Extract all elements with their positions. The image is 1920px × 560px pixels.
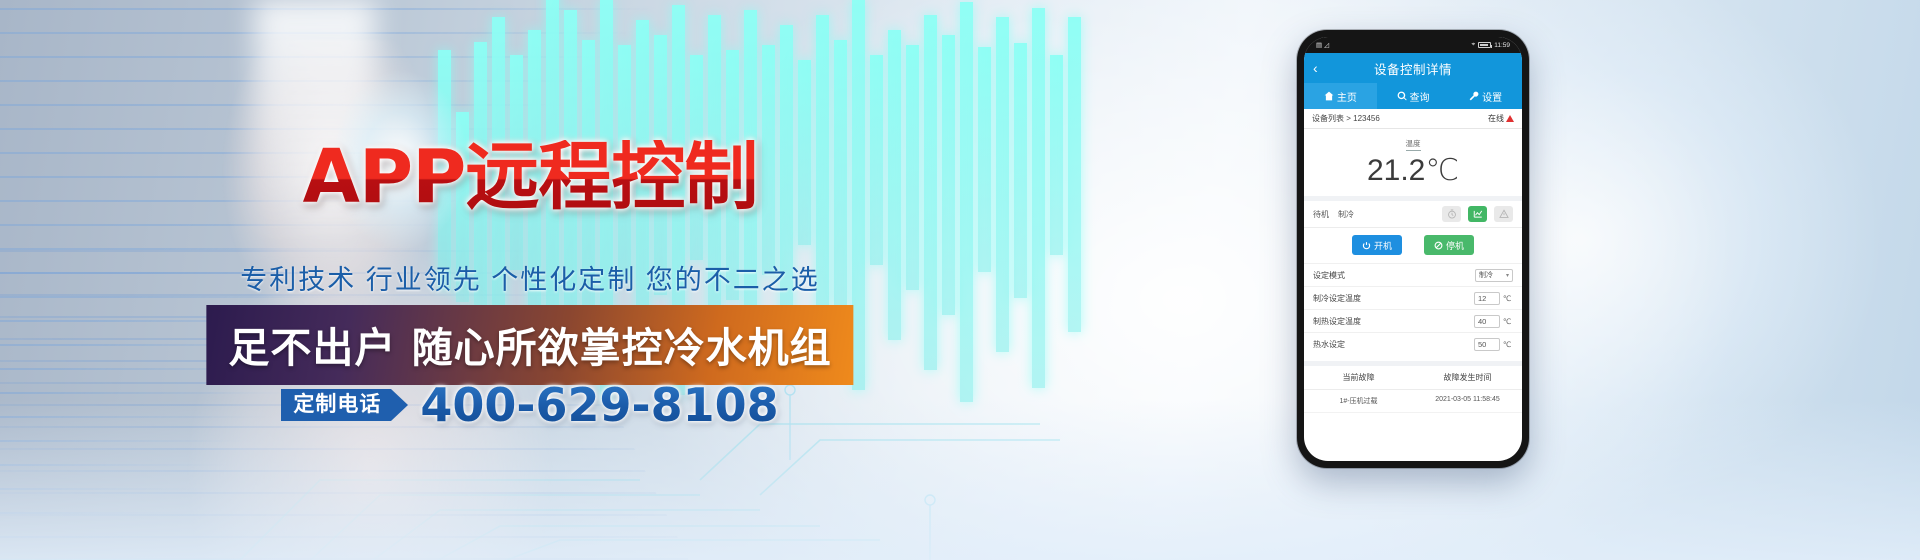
wrench-icon bbox=[1469, 91, 1479, 101]
mode-row: 待机 制冷 bbox=[1304, 201, 1522, 228]
setting-control-hotwater: 50 ℃ bbox=[1474, 338, 1513, 351]
tab-settings-label: 设置 bbox=[1482, 89, 1502, 104]
tab-bar: 主页 查询 设置 bbox=[1304, 83, 1522, 109]
fault-col-name: 当前故障 bbox=[1304, 366, 1413, 389]
status-badge: 在线 bbox=[1488, 113, 1504, 124]
chart-icon-button[interactable] bbox=[1468, 206, 1487, 222]
battery-icon bbox=[1478, 42, 1491, 48]
setting-row-mode: 设定模式 制冷 ▾ bbox=[1304, 263, 1522, 286]
hotline-row: 定制电话 400-629-8108 bbox=[0, 378, 1060, 432]
hero-highlight-bar: 足不出户 随心所欲掌控冷水机组 bbox=[206, 305, 853, 385]
status-bar: ▤ ◿ ⌖ 11:59 bbox=[1304, 37, 1522, 53]
tab-home-label: 主页 bbox=[1337, 89, 1357, 104]
tab-query-label: 查询 bbox=[1410, 89, 1430, 104]
setting-control-cool-temp: 12 ℃ bbox=[1474, 292, 1513, 305]
location-icon: ⌖ bbox=[1472, 41, 1476, 49]
status-time: 11:59 bbox=[1494, 42, 1510, 49]
mode-cooling-label: 制冷 bbox=[1338, 209, 1354, 220]
hotwater-unit: ℃ bbox=[1503, 340, 1513, 349]
cool-temp-unit: ℃ bbox=[1503, 294, 1513, 303]
fault-table-header: 当前故障 故障发生时间 bbox=[1304, 366, 1522, 390]
decorative-right-glow bbox=[1160, 0, 1920, 560]
back-icon[interactable]: ‹ bbox=[1313, 61, 1318, 75]
breadcrumb-bar: 设备列表 > 123456 在线 bbox=[1304, 109, 1522, 129]
hero-subtitle: 专利技术 行业领先 个性化定制 您的不二之选 bbox=[0, 258, 1060, 297]
hotline-label: 定制电话 bbox=[281, 389, 391, 421]
power-icon bbox=[1362, 241, 1371, 250]
fault-time: 2021-03-05 11:58:45 bbox=[1413, 390, 1522, 412]
promo-banner: APP远程控制 专利技术 行业领先 个性化定制 您的不二之选 足不出户 随心所欲… bbox=[0, 0, 1920, 560]
power-on-button[interactable]: 开机 bbox=[1352, 235, 1402, 255]
search-icon bbox=[1397, 91, 1407, 101]
fault-col-time: 故障发生时间 bbox=[1413, 366, 1522, 389]
setting-row-hotwater: 热水设定 50 ℃ bbox=[1304, 332, 1522, 355]
tab-query[interactable]: 查询 bbox=[1377, 83, 1450, 109]
mode-select[interactable]: 制冷 ▾ bbox=[1475, 269, 1513, 282]
power-buttons-row: 开机 停机 bbox=[1304, 228, 1522, 263]
temperature-label: 温度 bbox=[1406, 138, 1421, 151]
setting-control-mode: 制冷 ▾ bbox=[1475, 269, 1513, 282]
hero-copy: APP远程控制 专利技术 行业领先 个性化定制 您的不二之选 足不出户 随心所欲… bbox=[0, 0, 1060, 560]
hotline-number[interactable]: 400-629-8108 bbox=[420, 378, 778, 432]
mode-select-value: 制冷 bbox=[1479, 270, 1493, 280]
warning-icon bbox=[1506, 115, 1514, 122]
breadcrumb[interactable]: 设备列表 > 123456 bbox=[1312, 113, 1380, 124]
setting-row-heat-temp: 制热设定温度 40 ℃ bbox=[1304, 309, 1522, 332]
chart-icon bbox=[1473, 209, 1483, 219]
power-off-button[interactable]: 停机 bbox=[1424, 235, 1474, 255]
phone-mockup: ▤ ◿ ⌖ 11:59 ‹ 设备控制详情 主页 bbox=[1297, 30, 1529, 468]
home-icon bbox=[1324, 91, 1334, 101]
temperature-readout: 温度 21.2℃ bbox=[1304, 129, 1522, 196]
timer-icon bbox=[1447, 209, 1457, 219]
alarm-icon-button[interactable] bbox=[1494, 206, 1513, 222]
phone-screen: ▤ ◿ ⌖ 11:59 ‹ 设备控制详情 主页 bbox=[1304, 37, 1522, 461]
page-title: APP远程控制 bbox=[0, 140, 1060, 214]
hero-highlight-text: 足不出户 随心所欲掌控冷水机组 bbox=[228, 324, 831, 372]
chevron-down-icon: ▾ bbox=[1506, 272, 1509, 279]
app-title: 设备控制详情 bbox=[1304, 59, 1522, 78]
setting-control-heat-temp: 40 ℃ bbox=[1474, 315, 1513, 328]
tab-settings[interactable]: 设置 bbox=[1449, 83, 1522, 109]
connection-status: 在线 bbox=[1488, 113, 1514, 124]
status-bar-right: ⌖ 11:59 bbox=[1472, 41, 1510, 49]
table-row[interactable]: 1#-压机过载 2021-03-05 11:58:45 bbox=[1304, 390, 1522, 413]
sim-icon: ▤ bbox=[1316, 41, 1322, 49]
app-header: ‹ 设备控制详情 bbox=[1304, 53, 1522, 83]
setting-row-cool-temp: 制冷设定温度 12 ℃ bbox=[1304, 286, 1522, 309]
alarm-icon bbox=[1499, 209, 1509, 219]
mode-icon-buttons bbox=[1442, 206, 1513, 222]
tab-home[interactable]: 主页 bbox=[1304, 83, 1377, 109]
setting-label-mode: 设定模式 bbox=[1313, 270, 1475, 281]
fault-name: 1#-压机过载 bbox=[1304, 390, 1413, 412]
power-off-label: 停机 bbox=[1446, 239, 1464, 252]
power-on-label: 开机 bbox=[1374, 239, 1392, 252]
settings-list: 设定模式 制冷 ▾ 制冷设定温度 12 ℃ bbox=[1304, 263, 1522, 355]
mode-standby-label: 待机 bbox=[1313, 209, 1329, 220]
setting-label-hotwater: 热水设定 bbox=[1313, 339, 1474, 350]
arrow-right-icon bbox=[391, 389, 408, 421]
stop-icon bbox=[1434, 241, 1443, 250]
setting-label-heat-temp: 制热设定温度 bbox=[1313, 316, 1474, 327]
fault-table: 当前故障 故障发生时间 1#-压机过载 2021-03-05 11:58:45 bbox=[1304, 361, 1522, 413]
status-bar-left: ▤ ◿ bbox=[1316, 41, 1329, 49]
setting-label-cool-temp: 制冷设定温度 bbox=[1313, 293, 1474, 304]
signal-icon: ◿ bbox=[1324, 41, 1329, 49]
heat-temp-input[interactable]: 40 bbox=[1474, 315, 1500, 328]
temperature-value: 21.2℃ bbox=[1304, 153, 1522, 188]
timer-icon-button[interactable] bbox=[1442, 206, 1461, 222]
cool-temp-input[interactable]: 12 bbox=[1474, 292, 1500, 305]
heat-temp-unit: ℃ bbox=[1503, 317, 1513, 326]
hotwater-input[interactable]: 50 bbox=[1474, 338, 1500, 351]
